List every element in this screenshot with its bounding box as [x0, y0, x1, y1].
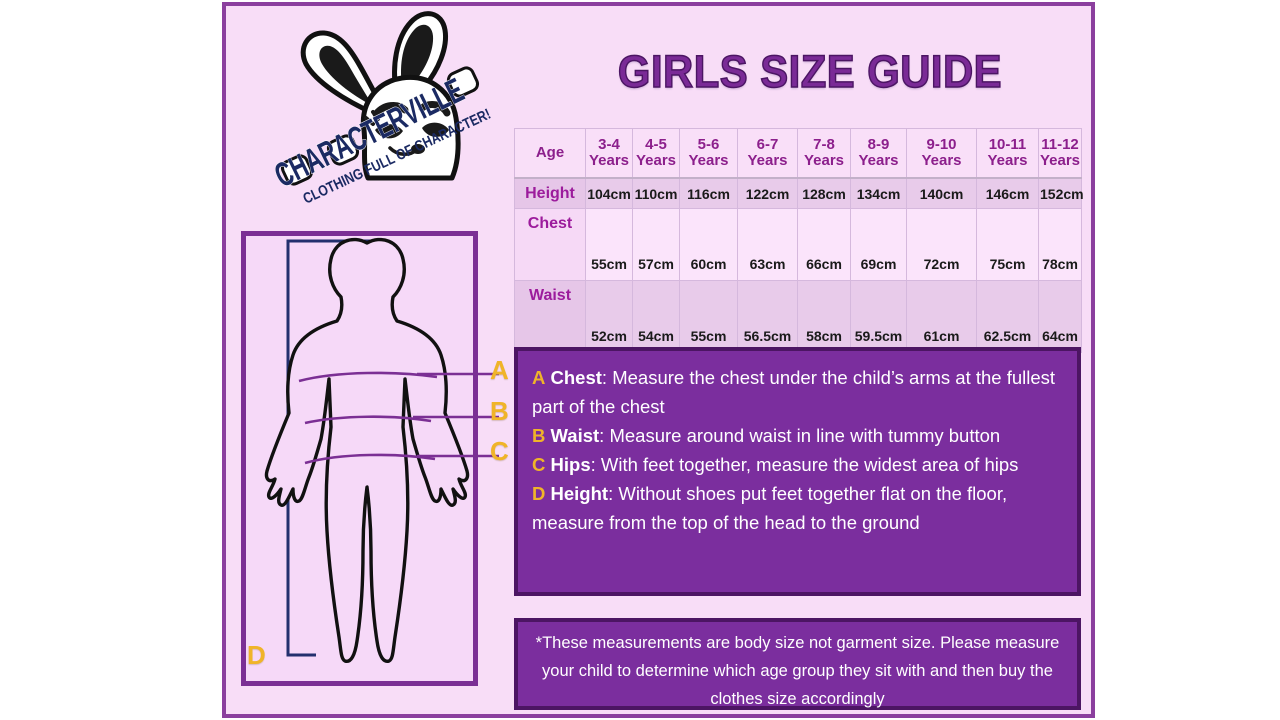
- page-title: GIRLS SIZE GUIDE: [578, 46, 1043, 98]
- marker-label-d: D: [247, 640, 266, 671]
- instruction-item: A Chest: Measure the chest under the chi…: [532, 363, 1063, 421]
- instruction-text: : Measure the chest under the child’s ar…: [532, 367, 1055, 417]
- body-figure-svg: [241, 231, 531, 691]
- table-cell: 140cm: [907, 178, 977, 209]
- instruction-item: C Hips: With feet together, measure the …: [532, 450, 1063, 479]
- table-cell: 60cm: [680, 209, 738, 281]
- table-cell: 72cm: [907, 209, 977, 281]
- instruction-term: Chest: [551, 367, 602, 388]
- table-cell: 55cm: [680, 281, 738, 353]
- table-cell: 152cm: [1039, 178, 1082, 209]
- age-unit: Years: [747, 152, 787, 169]
- age-range: 9-10: [926, 136, 956, 153]
- instruction-text: : Measure around waist in line with tumm…: [599, 425, 1000, 446]
- instruction-term: Waist: [551, 425, 600, 446]
- table-cell: 146cm: [977, 178, 1039, 209]
- table-row-chest: Chest 55cm 57cm 60cm 63cm 66cm 69cm 72cm…: [515, 209, 1082, 281]
- table-header-row: Age 3-4 Years 4-5 Years 5-6 Years 6-7 Ye…: [515, 129, 1082, 179]
- table-header-cell: 8-9 Years: [851, 129, 907, 179]
- age-unit: Years: [688, 152, 728, 169]
- age-unit: Years: [589, 152, 629, 169]
- table-cell: 122cm: [738, 178, 798, 209]
- table-header-cell: 5-6 Years: [680, 129, 738, 179]
- age-unit: Years: [858, 152, 898, 169]
- size-guide-canvas: CHARACTERVILLE CLOTHING FULL OF CHARACTE…: [0, 0, 1280, 720]
- age-unit: Years: [987, 152, 1027, 169]
- age-range: 11-12: [1041, 136, 1079, 153]
- age-unit: Years: [1040, 152, 1080, 169]
- table-cell: 110cm: [633, 178, 680, 209]
- age-range: 6-7: [757, 136, 779, 153]
- instruction-term: Hips: [551, 454, 591, 475]
- brand-logo: CHARACTERVILLE CLOTHING FULL OF CHARACTE…: [272, 8, 542, 208]
- measurement-instructions: A Chest: Measure the chest under the chi…: [514, 347, 1081, 596]
- instruction-letter: D: [532, 483, 545, 504]
- table-header-age: Age: [515, 129, 586, 179]
- table-header-cell: 10-11 Years: [977, 129, 1039, 179]
- table-cell: 61cm: [907, 281, 977, 353]
- marker-label-b: B: [490, 396, 509, 427]
- marker-label-c: C: [490, 436, 509, 467]
- table-cell: 69cm: [851, 209, 907, 281]
- body-silhouette: [266, 240, 467, 662]
- row-label: Height: [515, 178, 586, 209]
- size-chart-table: Age 3-4 Years 4-5 Years 5-6 Years 6-7 Ye…: [514, 128, 1082, 353]
- instruction-item: D Height: Without shoes put feet togethe…: [532, 479, 1063, 537]
- table-row-height: Height 104cm 110cm 116cm 122cm 128cm 134…: [515, 178, 1082, 209]
- age-unit: Years: [636, 152, 676, 169]
- age-range: 7-8: [813, 136, 835, 153]
- table-header-cell: 6-7 Years: [738, 129, 798, 179]
- footnote-box: *These measurements are body size not ga…: [514, 618, 1081, 710]
- instruction-letter: A: [532, 367, 545, 388]
- table-cell: 56.5cm: [738, 281, 798, 353]
- table-cell: 64cm: [1039, 281, 1082, 353]
- table-cell: 78cm: [1039, 209, 1082, 281]
- table-cell: 58cm: [798, 281, 851, 353]
- age-range: 3-4: [598, 136, 620, 153]
- table-row-waist: Waist 52cm 54cm 55cm 56.5cm 58cm 59.5cm …: [515, 281, 1082, 353]
- table-header-cell: 4-5 Years: [633, 129, 680, 179]
- instruction-letter: C: [532, 454, 545, 475]
- instruction-item: B Waist: Measure around waist in line wi…: [532, 421, 1063, 450]
- table-cell: 59.5cm: [851, 281, 907, 353]
- table-cell: 55cm: [586, 209, 633, 281]
- marker-label-a: A: [490, 355, 509, 386]
- table-cell: 104cm: [586, 178, 633, 209]
- instruction-letter: B: [532, 425, 545, 446]
- table-header-cell: 7-8 Years: [798, 129, 851, 179]
- table-cell: 63cm: [738, 209, 798, 281]
- table-cell: 134cm: [851, 178, 907, 209]
- age-unit: Years: [921, 152, 961, 169]
- table-header-cell: 3-4 Years: [586, 129, 633, 179]
- bunny-logo-svg: CHARACTERVILLE CLOTHING FULL OF CHARACTE…: [272, 8, 542, 208]
- table-cell: 75cm: [977, 209, 1039, 281]
- table-cell: 116cm: [680, 178, 738, 209]
- table-cell: 57cm: [633, 209, 680, 281]
- age-range: 10-11: [989, 136, 1027, 153]
- table-cell: 54cm: [633, 281, 680, 353]
- age-range: 5-6: [698, 136, 720, 153]
- table-header-cell: 9-10 Years: [907, 129, 977, 179]
- table-cell: 52cm: [586, 281, 633, 353]
- age-range: 4-5: [645, 136, 667, 153]
- table-cell: 128cm: [798, 178, 851, 209]
- age-range: 8-9: [868, 136, 890, 153]
- table-cell: 62.5cm: [977, 281, 1039, 353]
- table-cell: 66cm: [798, 209, 851, 281]
- instruction-term: Height: [551, 483, 609, 504]
- table-header-cell: 11-12 Years: [1039, 129, 1082, 179]
- instruction-text: : With feet together, measure the widest…: [591, 454, 1019, 475]
- age-unit: Years: [804, 152, 844, 169]
